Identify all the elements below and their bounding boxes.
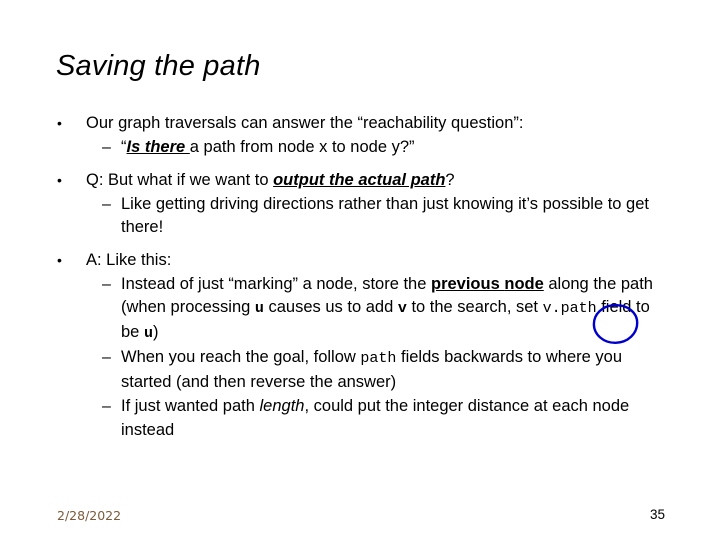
bullet-text: Our graph traversals can answer the “rea… xyxy=(86,114,523,132)
sub-bullet-text: a path from node x to node y?” xyxy=(190,138,415,156)
sub-bullet-follow-path-fields: –When you reach the goal, follow path fi… xyxy=(52,346,672,394)
bullet-group-3: • A: Like this: –Instead of just “markin… xyxy=(52,249,672,443)
sub-bullet-text: Like getting driving directions rather t… xyxy=(121,195,649,237)
code-v-path: v.path xyxy=(543,300,597,317)
bullet-group-1: • Our graph traversals can answer the “r… xyxy=(52,112,672,160)
bullet-marker-dot: • xyxy=(57,169,62,192)
sub-bullet-driving-directions: – Like getting driving directions rather… xyxy=(52,193,672,240)
emphasis-node-circled: node xyxy=(504,273,543,297)
bullet-text-tail: ? xyxy=(445,171,454,189)
sub-bullet-path-length: –If just wanted path length, could put t… xyxy=(52,395,672,442)
bullet-text: Q: But what if we want to xyxy=(86,171,273,189)
sub-bullet-text: If just wanted path xyxy=(121,397,260,415)
bullet-item-reachability: • Our graph traversals can answer the “r… xyxy=(52,112,672,135)
bullet-group-2: • Q: But what if we want to output the a… xyxy=(52,169,672,240)
bullet-marker-dash: – xyxy=(102,136,111,160)
bullet-item-question: • Q: But what if we want to output the a… xyxy=(52,169,672,192)
emphasis-is-there: Is there xyxy=(127,138,190,156)
sub-bullet-text-3: causes us to add xyxy=(264,298,398,316)
code-v: v xyxy=(398,300,407,317)
footer-date: 2/28/2022 xyxy=(57,508,121,523)
bullet-marker-dot: • xyxy=(57,249,62,272)
bullet-marker-dot: • xyxy=(57,112,62,135)
emphasis-previous: previous xyxy=(431,275,504,293)
bullet-marker-dash: – xyxy=(102,346,111,370)
bullet-marker-dash: – xyxy=(102,395,111,419)
sub-bullet-text: When you reach the goal, follow xyxy=(121,348,360,366)
sub-bullet-is-there: – “Is there a path from node x to node y… xyxy=(52,136,672,160)
footer-slide-number: 35 xyxy=(650,507,665,522)
bullet-marker-dash: – xyxy=(102,273,111,297)
code-path: path xyxy=(360,350,396,367)
bullet-item-answer: • A: Like this: xyxy=(52,249,672,272)
slide-body: • Our graph traversals can answer the “r… xyxy=(52,112,672,451)
sub-bullet-store-previous-node: –Instead of just “marking” a node, store… xyxy=(52,273,672,346)
slide: Saving the path • Our graph traversals c… xyxy=(0,0,720,540)
bullet-marker-dash: – xyxy=(102,193,111,217)
sub-bullet-text-4: to the search, set xyxy=(407,298,543,316)
sub-bullet-text: Instead of just “marking” a node, store … xyxy=(121,275,431,293)
bullet-text: A: Like this: xyxy=(86,251,171,269)
emphasis-output-actual-path: output the actual path xyxy=(273,171,445,189)
sub-bullet-text-6: ) xyxy=(153,323,159,341)
emphasis-length: length xyxy=(260,397,305,415)
page-title: Saving the path xyxy=(56,50,261,83)
code-u-2: u xyxy=(144,325,153,342)
code-u: u xyxy=(255,300,264,317)
